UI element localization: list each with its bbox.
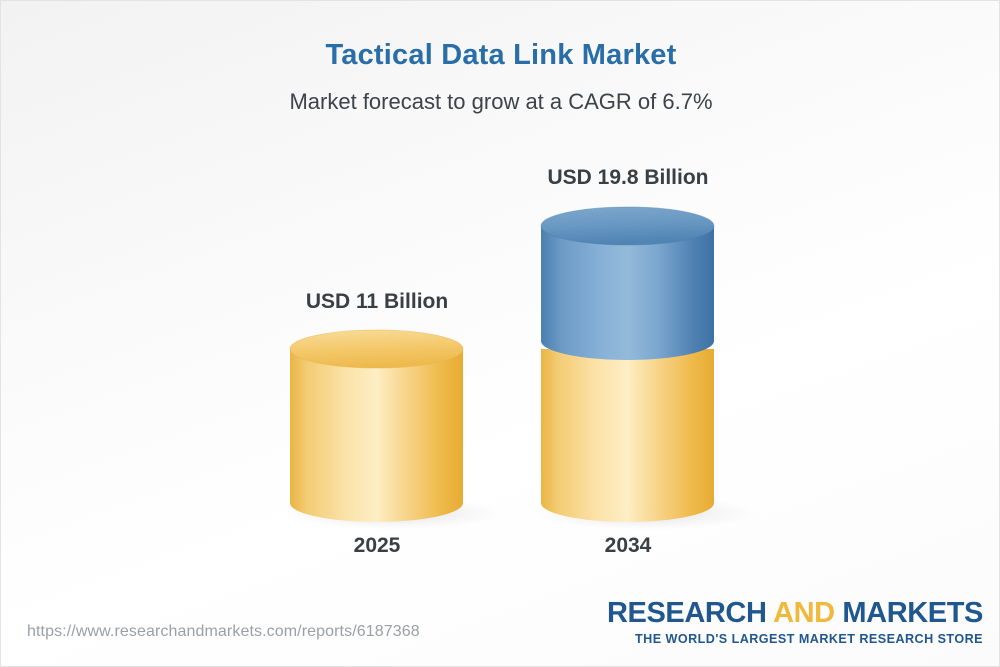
logo-word-research: RESEARCH [607,597,767,629]
research-and-markets-logo[interactable]: RESEARCH AND MARKETS THE WORLD'S LARGEST… [607,599,983,646]
logo-tagline: THE WORLD'S LARGEST MARKET RESEARCH STOR… [607,633,983,646]
cylinder-bars-svg [1,1,1000,667]
category-label-2034: 2034 [478,534,778,558]
value-label-2034: USD 19.8 Billion [478,166,778,190]
bar-2034[interactable] [541,207,714,522]
bar-2034-base-body [541,349,714,522]
source-url[interactable]: https://www.researchandmarkets.com/repor… [27,623,420,641]
logo-wordmark: RESEARCH AND MARKETS [607,599,983,628]
bar-2025[interactable] [290,330,463,522]
plot-area: USD 11 Billion USD 19.8 Billion 2025 203… [1,1,1000,667]
bar-2034-growth-body [541,226,714,360]
bar-2025-body [290,349,463,522]
logo-word-and: AND [773,597,835,629]
logo-word-markets: MARKETS [842,597,983,629]
chart-canvas: Tactical Data Link Market Market forecas… [0,0,1000,667]
value-label-2025: USD 11 Billion [227,290,527,314]
